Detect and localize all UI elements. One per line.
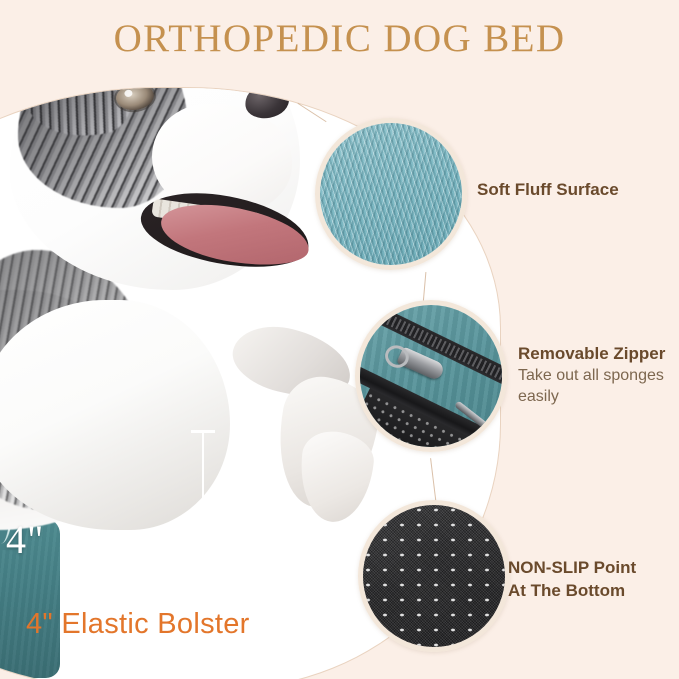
feature-subtext-zipper: Take out all sponges easily bbox=[518, 366, 679, 408]
height-dimension-label: 4" bbox=[6, 516, 44, 563]
feature-heading-zipper: Removable Zipper bbox=[518, 343, 679, 366]
zipper-fabric-icon bbox=[360, 305, 502, 447]
feature-swatch-zipper bbox=[355, 300, 507, 452]
dog-chest bbox=[0, 300, 230, 530]
height-dimension-line bbox=[202, 430, 204, 618]
feature-heading-nonslip-line1: NON-SLIP Point bbox=[508, 557, 636, 580]
feature-heading-fluff: Soft Fluff Surface bbox=[477, 179, 619, 202]
feature-label-zipper: Removable Zipper Take out all sponges ea… bbox=[518, 343, 679, 408]
feature-heading-nonslip-line2: At The Bottom bbox=[508, 580, 636, 603]
bolster-caption: 4" Elastic Bolster bbox=[26, 608, 250, 641]
page-title: ORTHOPEDIC DOG BED bbox=[0, 16, 679, 61]
feature-label-fluff: Soft Fluff Surface bbox=[477, 179, 619, 202]
feature-swatch-nonslip bbox=[358, 500, 510, 652]
fluff-texture-icon bbox=[320, 123, 462, 265]
feature-swatch-fluff bbox=[315, 118, 467, 270]
feature-label-nonslip: NON-SLIP Point At The Bottom bbox=[508, 557, 636, 603]
product-infographic: ORTHOPEDIC DOG BED bbox=[0, 0, 679, 679]
nonslip-dots-icon bbox=[363, 505, 505, 647]
